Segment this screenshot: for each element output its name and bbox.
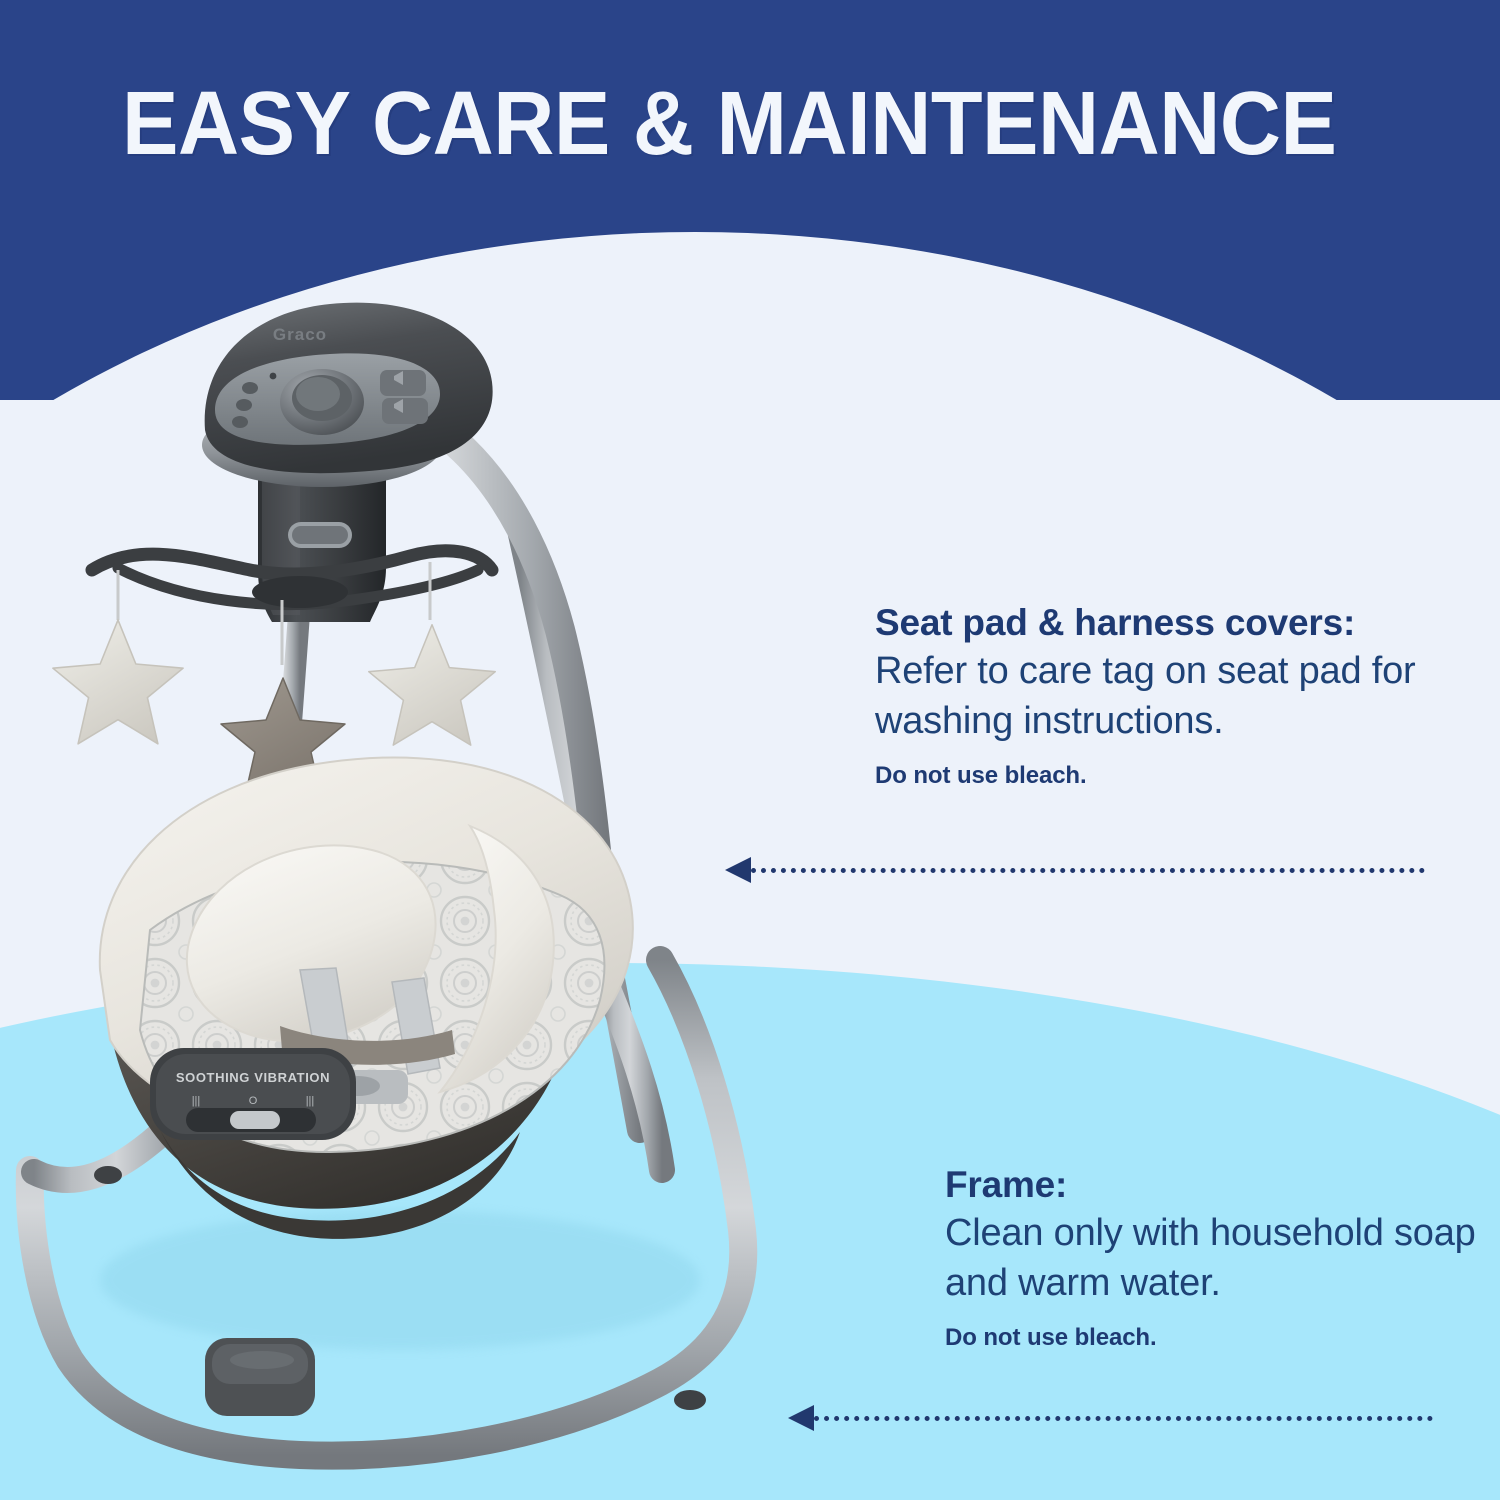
leader-line-frame <box>788 1405 1433 1431</box>
leader-line-seat-pad <box>725 857 1425 883</box>
callout-frame-note: Do not use bleach. <box>945 1324 1485 1352</box>
mobile-star-toy <box>369 625 495 745</box>
callout-seat-pad: Seat pad & harness covers: Refer to care… <box>875 600 1475 790</box>
infographic-canvas: EASY CARE & MAINTENANCE <box>0 0 1500 1500</box>
svg-text:|||: ||| <box>192 1095 201 1107</box>
callout-seat-pad-body: Refer to care tag on seat pad for washin… <box>875 646 1475 746</box>
speed-dial <box>280 369 364 435</box>
soothing-vibration-control: SOOTHING VIBRATION ||| O ||| <box>150 1048 356 1140</box>
callout-frame: Frame: Clean only with household soap an… <box>945 1162 1485 1352</box>
vibration-slider-thumb <box>230 1111 280 1129</box>
product-illustration: Graco <box>0 270 900 1500</box>
dashed-line <box>751 868 1425 873</box>
arrow-left-icon <box>725 857 751 883</box>
dashed-line <box>814 1416 1433 1421</box>
vibration-label-text: SOOTHING VIBRATION <box>176 1070 330 1085</box>
power-button <box>288 522 352 548</box>
frame-foot-left <box>94 1166 122 1184</box>
callout-seat-pad-note: Do not use bleach. <box>875 762 1475 790</box>
svg-text:|||: ||| <box>306 1095 315 1107</box>
page-title: EASY CARE & MAINTENANCE <box>122 78 1344 170</box>
svg-text:O: O <box>249 1095 258 1107</box>
mobile-hub <box>252 576 348 608</box>
callout-frame-title: Frame: <box>945 1162 1485 1208</box>
callout-frame-body: Clean only with household soap and warm … <box>945 1208 1485 1308</box>
brand-logo: Graco <box>273 325 327 344</box>
frame-foot-right <box>674 1390 706 1410</box>
frame-power-module <box>205 1338 315 1416</box>
led-dot <box>270 373 277 380</box>
arrow-left-icon <box>788 1405 814 1431</box>
callout-seat-pad-title: Seat pad & harness covers: <box>875 600 1475 646</box>
mobile-star-toy <box>53 620 183 744</box>
